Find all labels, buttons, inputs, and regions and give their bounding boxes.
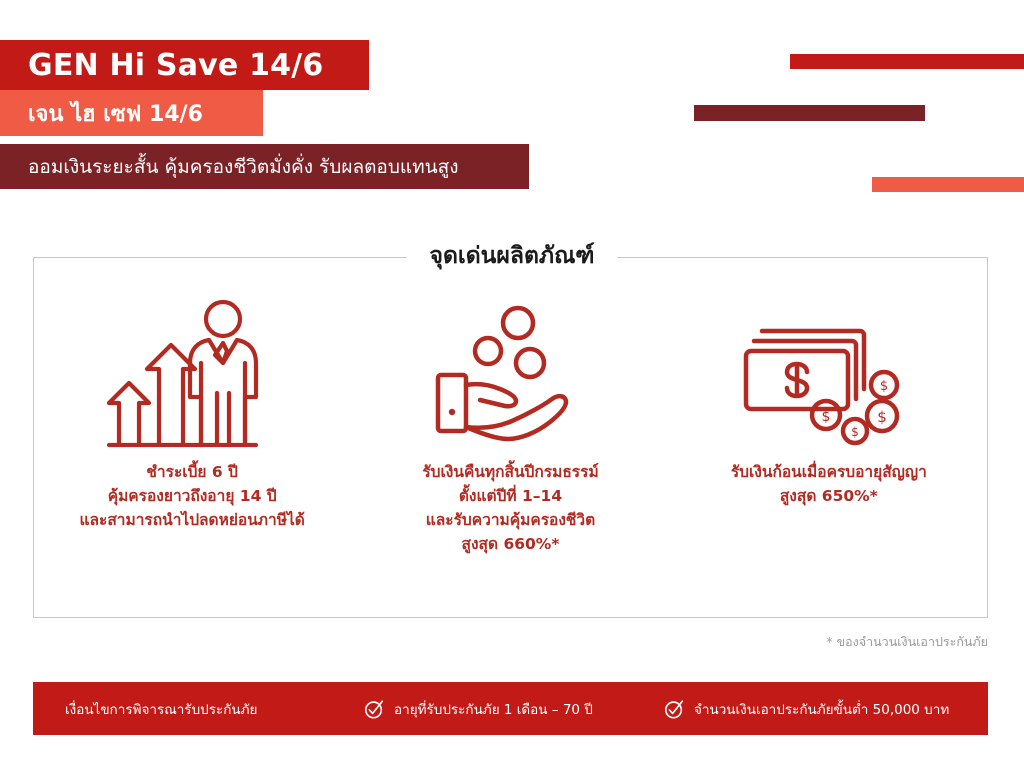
condition-item-min-sum-text: จำนวนเงินเอาประกันภัยขั้นต่ำ 50,000 บาท — [694, 698, 949, 720]
highlight-item-2: รับเงินคืนทุกสิ้นปีกรมธรรม์ ตั้งแต่ปีที่… — [351, 285, 669, 556]
conditions-label: เงื่อนไขการพิจารณารับประกันภัย — [33, 698, 363, 720]
highlights-heading-text: จุดเด่นผลิตภัณฑ์ — [407, 243, 616, 269]
product-title-band: GEN Hi Save 14/6 — [0, 40, 369, 90]
highlight-line: รับเงินคืนทุกสิ้นปีกรมธรรม์ — [422, 460, 598, 484]
svg-text:$: $ — [877, 408, 887, 426]
highlights-heading: จุดเด่นผลิตภัณฑ์ — [0, 238, 1024, 274]
highlight-item-1: ชำระเบี้ย 6 ปี คุ้มครองยาวถึงอายุ 14 ปี … — [33, 285, 351, 532]
infographic-page: GEN Hi Save 14/6 เจน ไฮ เซฟ 14/6 ออมเงิน… — [0, 0, 1024, 768]
highlight-item-3: $ $ $ $ รับเงินก้อนเมื่อครบอายุสัญญา สูง… — [670, 285, 988, 508]
highlight-line: รับเงินก้อนเมื่อครบอายุสัญญา — [731, 460, 927, 484]
person-growth-arrows-icon — [97, 285, 287, 460]
footnote: * ของจำนวนเงินเอาประกันภัย — [826, 632, 988, 652]
decorative-bar-bottom — [872, 177, 1024, 192]
highlight-line: ตั้งแต่ปีที่ 1–14 — [422, 484, 598, 508]
condition-item-min-sum: จำนวนเงินเอาประกันภัยขั้นต่ำ 50,000 บาท — [663, 698, 949, 720]
highlight-line: สูงสุด 660%* — [422, 532, 598, 556]
banknotes-coins-icon: $ $ $ $ — [734, 285, 924, 460]
product-title: GEN Hi Save 14/6 — [28, 48, 323, 83]
product-subtitle: เจน ไฮ เซฟ 14/6 — [28, 96, 203, 131]
decorative-bar-middle — [694, 105, 925, 121]
product-tagline-band: ออมเงินระยะสั้น คุ้มครองชีวิตมั่งคั่ง รั… — [0, 144, 529, 189]
highlight-item-2-text: รับเงินคืนทุกสิ้นปีกรมธรรม์ ตั้งแต่ปีที่… — [412, 460, 608, 556]
highlight-item-1-text: ชำระเบี้ย 6 ปี คุ้มครองยาวถึงอายุ 14 ปี … — [70, 460, 315, 532]
highlight-item-3-text: รับเงินก้อนเมื่อครบอายุสัญญา สูงสุด 650%… — [721, 460, 937, 508]
decorative-bar-top — [790, 54, 1024, 69]
check-circle-icon — [363, 698, 385, 720]
conditions-footer-bar: เงื่อนไขการพิจารณารับประกันภัย อายุที่รั… — [33, 682, 988, 735]
highlight-line: คุ้มครองยาวถึงอายุ 14 ปี — [80, 484, 305, 508]
product-tagline: ออมเงินระยะสั้น คุ้มครองชีวิตมั่งคั่ง รั… — [28, 152, 459, 182]
highlight-line: ชำระเบี้ย 6 ปี — [80, 460, 305, 484]
product-subtitle-band: เจน ไฮ เซฟ 14/6 — [0, 90, 263, 136]
highlight-line: สูงสุด 650%* — [731, 484, 927, 508]
highlights-list: ชำระเบี้ย 6 ปี คุ้มครองยาวถึงอายุ 14 ปี … — [33, 285, 988, 605]
check-circle-icon — [663, 698, 685, 720]
condition-item-age: อายุที่รับประกันภัย 1 เดือน – 70 ปี — [363, 698, 663, 720]
highlight-line: และรับความคุ้มครองชีวิต — [422, 508, 598, 532]
hand-receiving-coins-icon — [420, 285, 600, 460]
svg-text:$: $ — [880, 379, 888, 394]
svg-text:$: $ — [851, 425, 859, 439]
svg-text:$: $ — [821, 409, 830, 425]
highlight-line: และสามารถนำไปลดหย่อนภาษีได้ — [80, 508, 305, 532]
condition-item-age-text: อายุที่รับประกันภัย 1 เดือน – 70 ปี — [394, 698, 593, 720]
